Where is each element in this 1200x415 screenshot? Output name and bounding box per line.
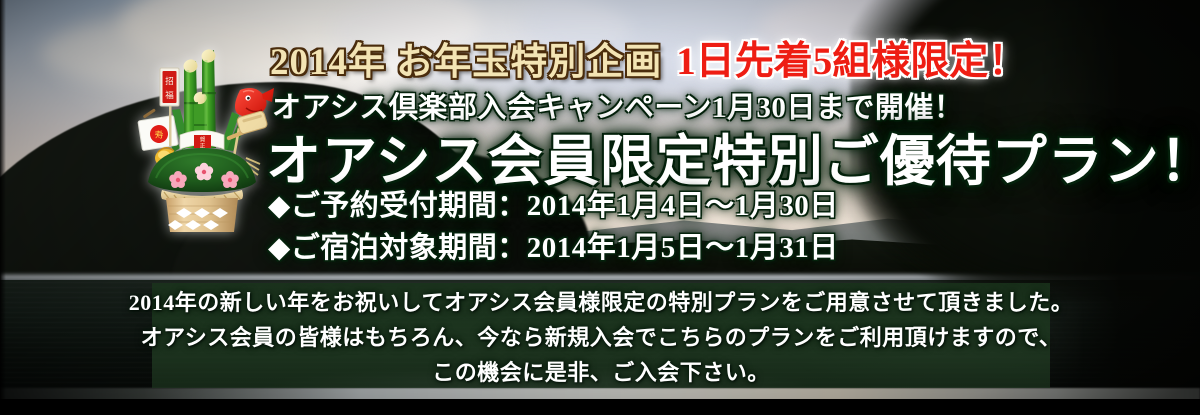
basket-base: [166, 198, 238, 232]
bottom-letterbox-bar: [0, 399, 1200, 415]
left-dark-edge: [0, 0, 6, 415]
svg-text:賀: 賀: [200, 136, 206, 144]
kadomatsu-icon: 寿 招 福: [122, 32, 282, 232]
gashou-band: 賀 正: [180, 131, 224, 150]
kadomatsu-decoration: 寿 招 福: [122, 32, 282, 232]
reservation-period-text: ◆ご予約受付期間：2014年1月4日〜1月30日: [268, 182, 839, 224]
new-year-campaign-banner: 寿 招 福: [0, 0, 1200, 415]
note-line-1: 2014年の新しい年をお祝いしてオアシス会員様限定の特別プランをご用意させて頂き…: [129, 285, 1073, 317]
headline-row: 2014年 お年玉特別企画 1日先着5組様限定！: [270, 30, 1027, 86]
white-paper-flag: 寿: [138, 108, 178, 150]
stay-period-text: ◆ご宿泊対象期間：2014年1月5日〜1月31日: [268, 224, 839, 266]
note-line-3: この機会に是非、ご入会下さい。: [432, 355, 770, 387]
headline-red-text: 1日先着5組様限定！: [676, 30, 1027, 86]
note-line-2: オアシス会員の皆様はもちろん、今なら新規入会でこちらのプランをご利用頂けますので…: [141, 320, 1062, 352]
svg-text:福: 福: [165, 90, 174, 101]
svg-text:招: 招: [165, 76, 174, 87]
headline-gold-text: 2014年 お年玉特別企画: [270, 31, 662, 85]
note-box: 2014年の新しい年をお祝いしてオアシス会員様限定の特別プランをご用意させて頂き…: [152, 283, 1050, 388]
right-dark-foliage-edge: [1040, 0, 1200, 415]
